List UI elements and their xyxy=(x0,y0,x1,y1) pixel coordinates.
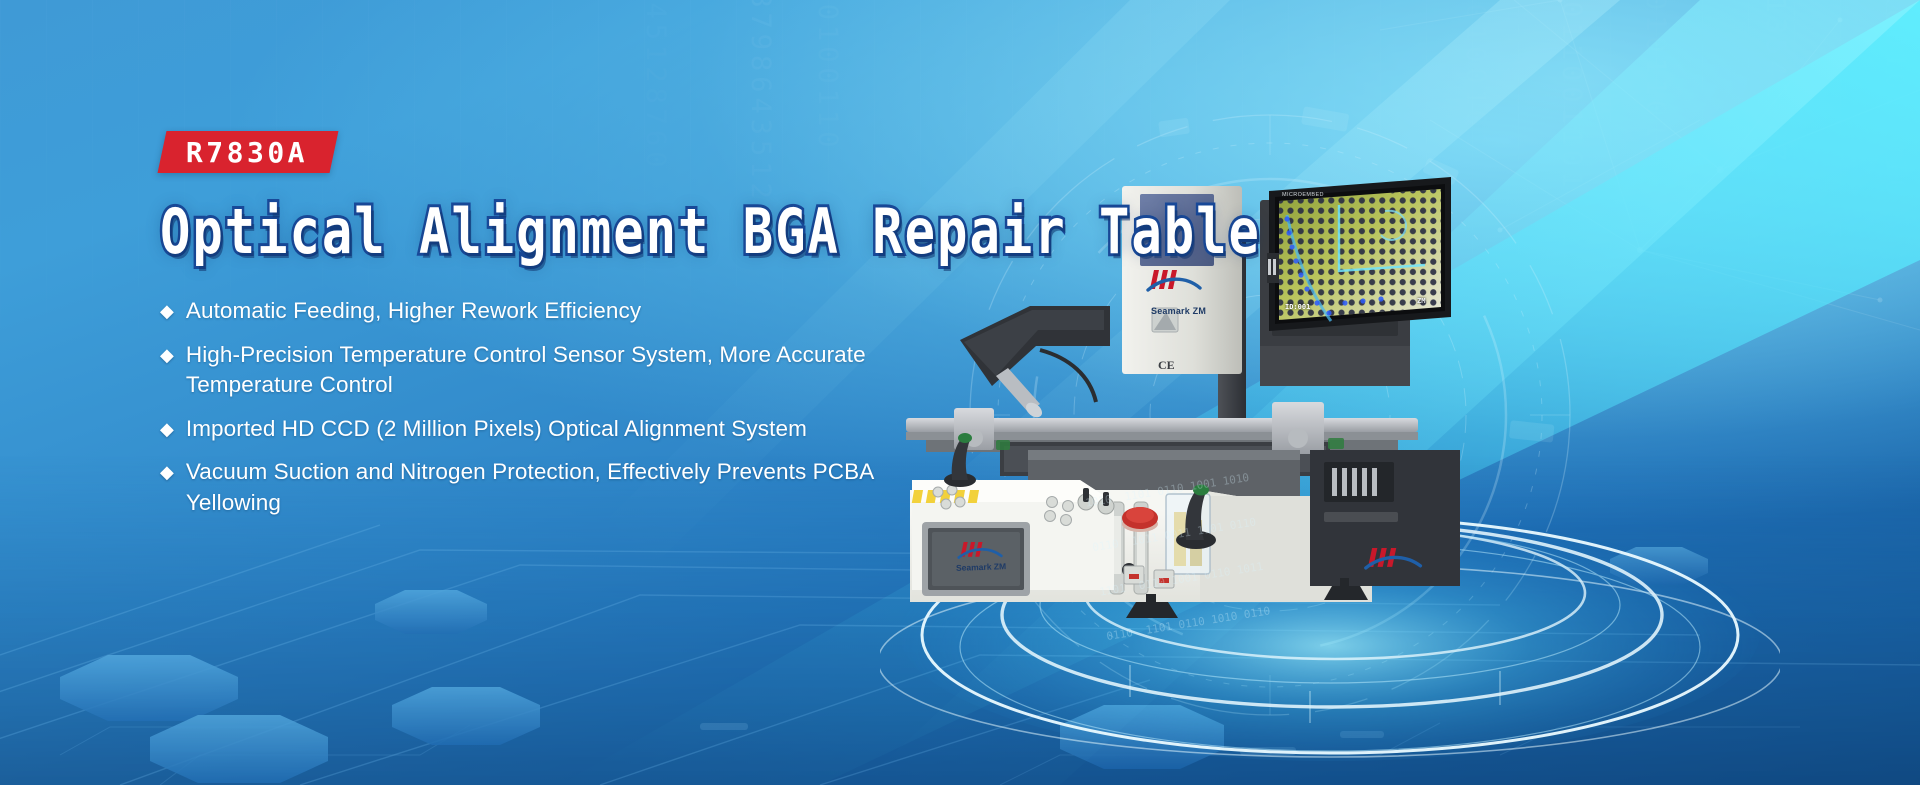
product-banner: 8879864351294 0110100110 1011001101 4213… xyxy=(0,0,1920,785)
page-title: Optical Alignment BGA Repair Table xyxy=(160,197,1261,269)
feature-list: ◆ Automatic Feeding, Higher Rework Effic… xyxy=(160,296,960,531)
feature-text: Vacuum Suction and Nitrogen Protection, … xyxy=(186,457,886,518)
feature-text: High-Precision Temperature Control Senso… xyxy=(186,340,886,401)
list-item: ◆ Imported HD CCD (2 Million Pixels) Opt… xyxy=(160,414,960,445)
diamond-bullet-icon: ◆ xyxy=(160,296,174,326)
diamond-bullet-icon: ◆ xyxy=(160,457,174,487)
monitor-illustration xyxy=(1265,175,1455,340)
list-item: ◆ Automatic Feeding, Higher Rework Effic… xyxy=(160,296,960,327)
feature-text: Imported HD CCD (2 Million Pixels) Optic… xyxy=(186,414,807,445)
list-item: ◆ Vacuum Suction and Nitrogen Protection… xyxy=(160,457,960,518)
feature-text: Automatic Feeding, Higher Rework Efficie… xyxy=(186,296,641,327)
diamond-bullet-icon: ◆ xyxy=(160,414,174,444)
model-number-badge: R7830A xyxy=(158,131,339,173)
ccd-monitor: MICROEMBED ID:001 ZM xyxy=(1265,175,1455,340)
banner-text-content: R7830A Optical Alignment BGA Repair Tabl… xyxy=(0,0,1000,785)
model-number-text: R7830A xyxy=(186,136,308,169)
list-item: ◆ High-Precision Temperature Control Sen… xyxy=(160,340,960,401)
diamond-bullet-icon: ◆ xyxy=(160,340,174,370)
